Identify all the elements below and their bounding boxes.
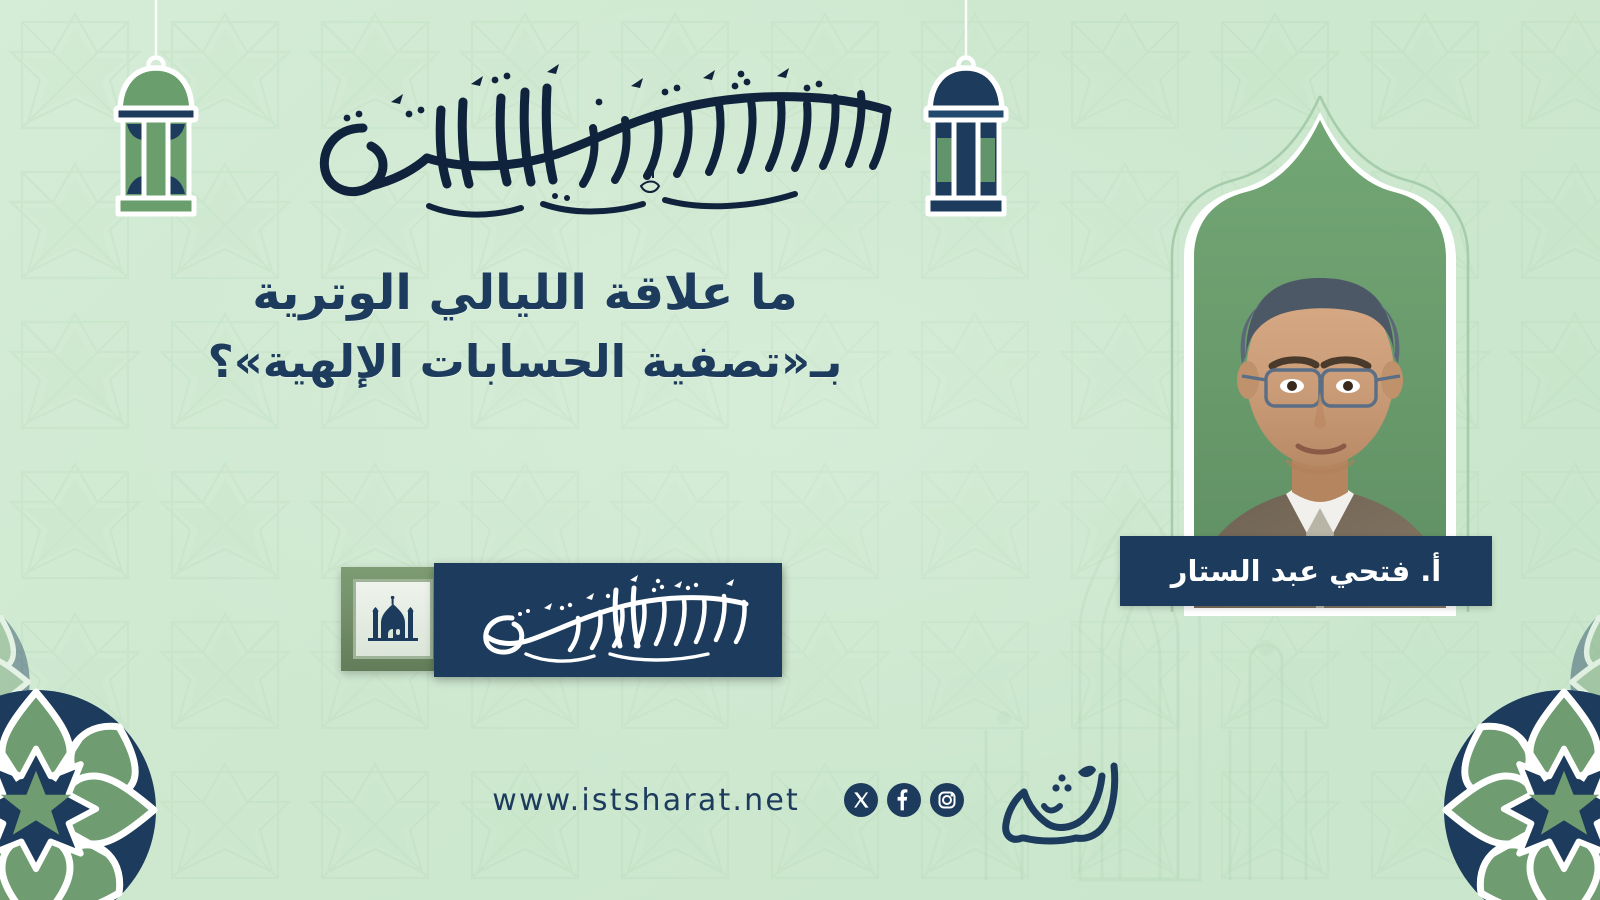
poster-canvas: بوابة الاستشارات الإلكترونية ما علاقة ال… [0, 0, 1600, 900]
lantern-right-icon [906, 0, 1026, 230]
ornament-left-icon [0, 570, 268, 900]
mosque-icon [366, 596, 420, 642]
website-url[interactable]: www.istsharat.net [492, 783, 800, 818]
series-badge-bar: استشارات إيمانية [341, 563, 782, 677]
x-twitter-icon[interactable] [844, 783, 878, 817]
mosque-icon-tile [353, 579, 433, 659]
social-links [844, 783, 964, 817]
instagram-icon[interactable] [930, 783, 964, 817]
question-block: ما علاقة الليالي الوترية بـ«تصفية الحساب… [90, 258, 960, 396]
question-line-1: ما علاقة الليالي الوترية [90, 258, 960, 329]
brand-calligraphy: بوابة الاستشارات الإلكترونية [195, 58, 905, 223]
speaker-name: أ. فتحي عبد الستار [1171, 554, 1441, 588]
facebook-icon[interactable] [887, 783, 921, 817]
mujtama-logo[interactable]: المجتمع [990, 754, 1130, 846]
series-calligraphy [458, 574, 758, 666]
speaker-name-plate: أ. فتحي عبد الستار [1120, 536, 1492, 606]
footer-bar: المجتمع www.istsharat.net [470, 752, 1130, 848]
question-line-2: بـ«تصفية الحسابات الإلهية»؟ [90, 329, 960, 396]
series-banner: استشارات إيمانية [434, 563, 782, 677]
